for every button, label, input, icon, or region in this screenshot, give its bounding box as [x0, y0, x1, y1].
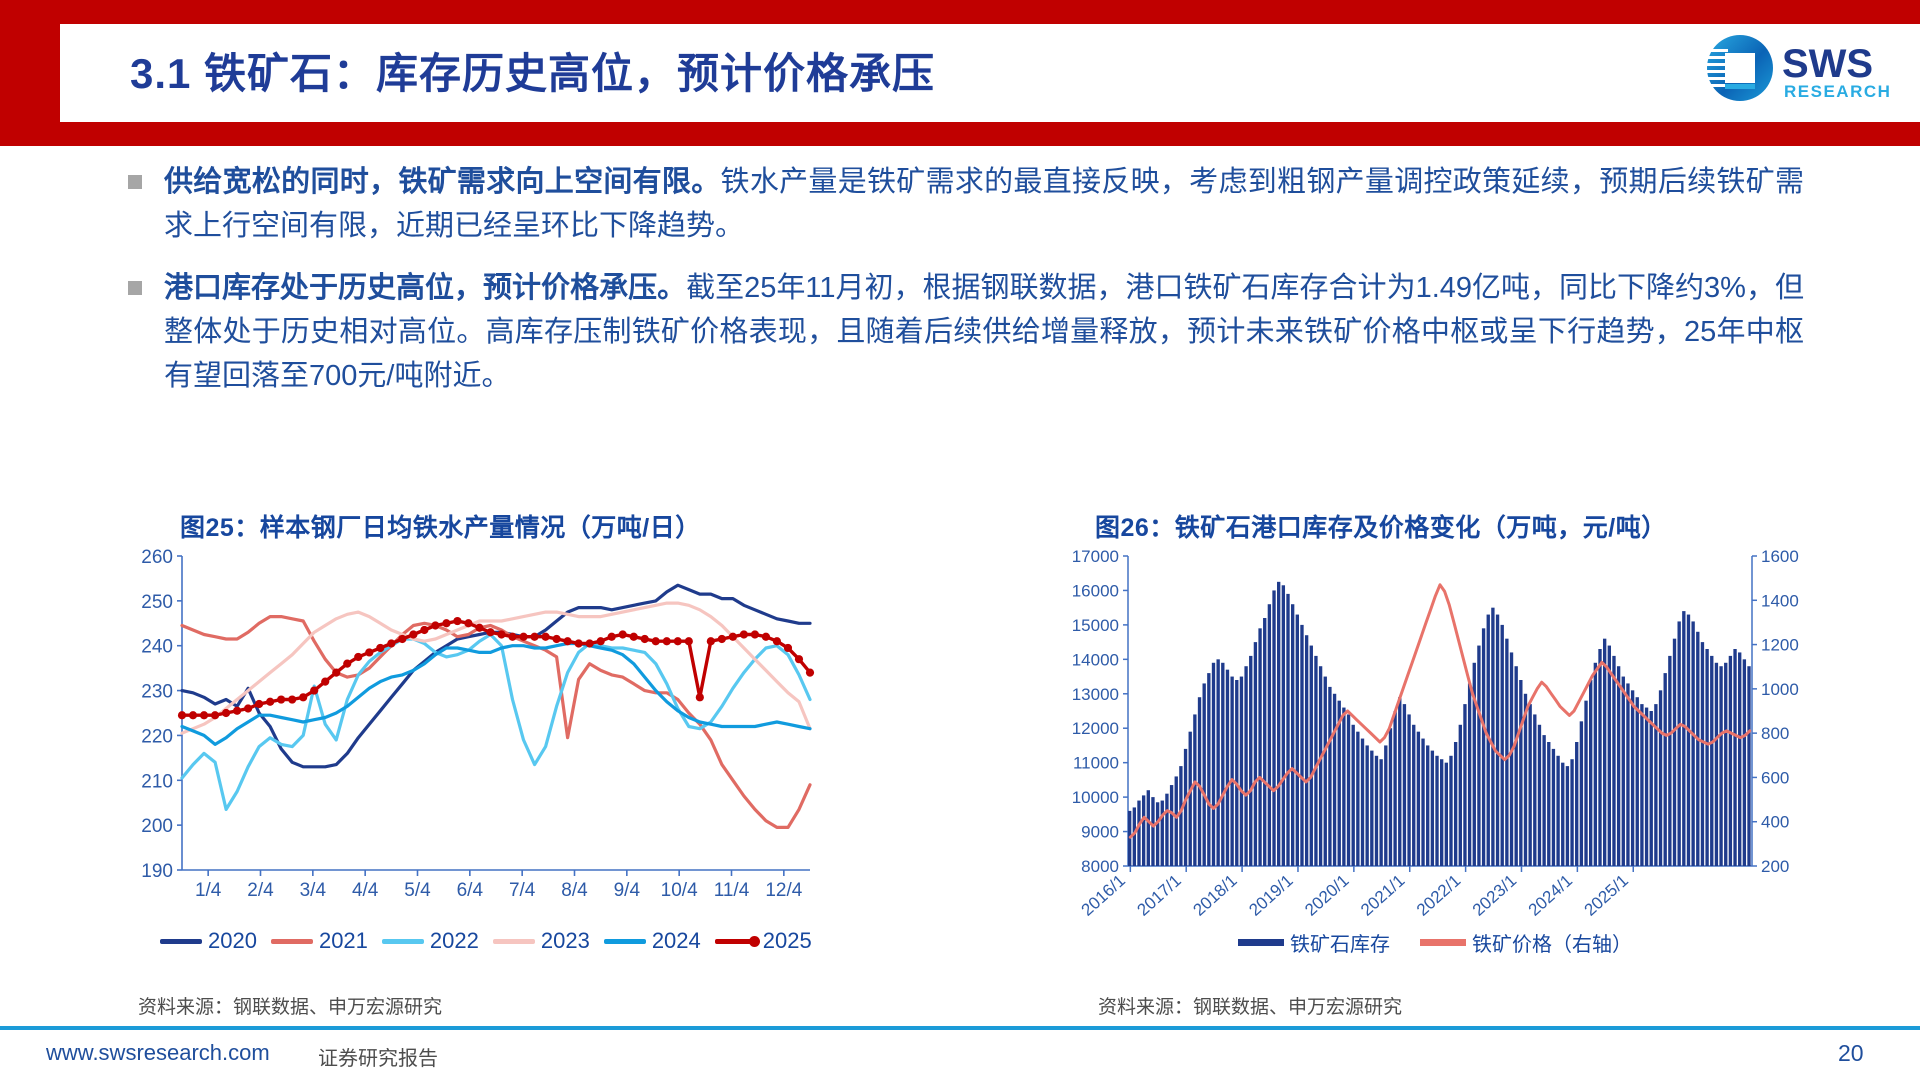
footer-divider — [0, 1026, 1920, 1030]
legend-swatch-price — [1420, 939, 1466, 946]
legend-label-2023: 2023 — [541, 928, 590, 954]
legend-item-2023: 2023 — [493, 928, 590, 954]
svg-text:400: 400 — [1761, 813, 1789, 832]
legend-label-2022: 2022 — [430, 928, 479, 954]
svg-text:2/4: 2/4 — [247, 880, 274, 901]
svg-text:11/4: 11/4 — [714, 880, 750, 901]
footer-label: 证券研究报告 — [318, 1042, 438, 1071]
svg-text:800: 800 — [1761, 724, 1789, 743]
svg-text:10/4: 10/4 — [661, 880, 698, 901]
legend-swatch-2022 — [382, 939, 424, 944]
legend-label-inventory: 铁矿石库存 — [1290, 928, 1390, 957]
svg-text:16000: 16000 — [1072, 581, 1119, 600]
chart25-legend: 2020 2021 2022 2023 2024 2025 — [160, 928, 826, 954]
chart26-plot: 8000900010000110001200013000140001500016… — [1050, 548, 1830, 928]
chart25-plot: 1902002102202302402502601/42/43/44/45/46… — [120, 548, 820, 928]
svg-text:230: 230 — [141, 682, 173, 703]
page-number: 20 — [1838, 1040, 1864, 1067]
svg-text:1/4: 1/4 — [195, 880, 222, 901]
legend-item-2020: 2020 — [160, 928, 257, 954]
svg-text:14000: 14000 — [1072, 650, 1119, 669]
svg-text:12/4: 12/4 — [765, 880, 802, 901]
svg-text:6/4: 6/4 — [457, 880, 484, 901]
slide-header: 3.1 铁矿石：库存历史高位，预计价格承压 — [0, 0, 1920, 146]
bullet-square-icon — [128, 175, 142, 189]
svg-text:5/4: 5/4 — [404, 880, 431, 901]
bullet-text-2: 港口库存处于历史高位，预计价格承压。截至25年11月初，根据钢联数据，港口铁矿石… — [164, 266, 1804, 398]
svg-text:1200: 1200 — [1761, 636, 1799, 655]
svg-text:3/4: 3/4 — [300, 880, 327, 901]
legend-item-2024: 2024 — [604, 928, 701, 954]
svg-text:9000: 9000 — [1081, 823, 1119, 842]
svg-text:13000: 13000 — [1072, 685, 1119, 704]
legend-label-price: 铁矿价格（右轴） — [1472, 928, 1632, 957]
svg-text:2016/1: 2016/1 — [1078, 871, 1129, 920]
svg-text:2021/1: 2021/1 — [1357, 871, 1408, 920]
header-bottom-band — [0, 122, 1920, 146]
bullet-item-1: 供给宽松的同时，铁矿需求向上空间有限。铁水产量是铁矿需求的最直接反映，考虑到粗钢… — [128, 160, 1808, 248]
chart26-title: 图26：铁矿石港口库存及价格变化（万吨，元/吨） — [1095, 508, 1667, 544]
svg-text:210: 210 — [141, 771, 173, 792]
bullet-1-bold: 供给宽松的同时，铁矿需求向上空间有限。 — [164, 166, 721, 198]
legend-label-2020: 2020 — [208, 928, 257, 954]
bullet-square-icon — [128, 281, 142, 295]
logo-sub-text: RESEARCH — [1784, 82, 1891, 101]
svg-text:2023/1: 2023/1 — [1469, 871, 1520, 920]
svg-text:11000: 11000 — [1073, 754, 1119, 773]
svg-text:2020/1: 2020/1 — [1301, 871, 1352, 920]
chart25-source: 资料来源：钢联数据、申万宏源研究 — [138, 992, 442, 1019]
svg-text:1600: 1600 — [1761, 548, 1799, 566]
svg-text:240: 240 — [141, 637, 173, 658]
svg-text:260: 260 — [141, 548, 173, 568]
legend-swatch-2021 — [271, 939, 313, 944]
logo-globe-icon — [1706, 35, 1773, 101]
sws-research-logo: SWS RESEARCH — [1700, 27, 1900, 109]
chart26-source: 资料来源：钢联数据、申万宏源研究 — [1098, 992, 1402, 1019]
slide: 3.1 铁矿石：库存历史高位，预计价格承压 — [0, 0, 1920, 1080]
legend-item-2021: 2021 — [271, 928, 368, 954]
svg-text:600: 600 — [1761, 768, 1789, 787]
page-title: 3.1 铁矿石：库存历史高位，预计价格承压 — [130, 40, 935, 101]
legend-item-2022: 2022 — [382, 928, 479, 954]
svg-text:4/4: 4/4 — [352, 880, 379, 901]
svg-text:10000: 10000 — [1072, 788, 1119, 807]
legend-item-2025: 2025 — [715, 928, 812, 954]
legend-swatch-2020 — [160, 939, 202, 944]
svg-text:9/4: 9/4 — [614, 880, 641, 901]
svg-text:2022/1: 2022/1 — [1413, 871, 1464, 920]
legend-swatch-2024 — [604, 939, 646, 944]
bullet-text-1: 供给宽松的同时，铁矿需求向上空间有限。铁水产量是铁矿需求的最直接反映，考虑到粗钢… — [164, 160, 1804, 248]
legend-item-price: 铁矿价格（右轴） — [1420, 928, 1632, 957]
bullet-item-2: 港口库存处于历史高位，预计价格承压。截至25年11月初，根据钢联数据，港口铁矿石… — [128, 266, 1808, 398]
legend-swatch-inventory — [1238, 939, 1284, 946]
legend-label-2021: 2021 — [319, 928, 368, 954]
bullet-2-bold: 港口库存处于历史高位，预计价格承压。 — [164, 272, 686, 304]
svg-text:220: 220 — [141, 726, 173, 747]
logo-main-text: SWS — [1782, 42, 1873, 86]
svg-text:1000: 1000 — [1761, 680, 1799, 699]
svg-text:8/4: 8/4 — [561, 880, 588, 901]
legend-label-2025: 2025 — [763, 928, 812, 954]
footer-url[interactable]: www.swsresearch.com — [46, 1040, 270, 1066]
svg-text:17000: 17000 — [1072, 548, 1119, 566]
svg-text:7/4: 7/4 — [509, 880, 536, 901]
svg-text:2018/1: 2018/1 — [1189, 871, 1240, 920]
svg-text:2017/1: 2017/1 — [1134, 871, 1185, 920]
legend-swatch-2025 — [715, 939, 757, 944]
svg-text:200: 200 — [1761, 857, 1789, 876]
svg-text:15000: 15000 — [1072, 616, 1119, 635]
svg-text:12000: 12000 — [1072, 719, 1119, 738]
chart25-title: 图25：样本钢厂日均铁水产量情况（万吨/日） — [180, 508, 701, 544]
chart26-legend: 铁矿石库存 铁矿价格（右轴） — [1238, 928, 1662, 957]
svg-text:2025/1: 2025/1 — [1581, 871, 1632, 920]
legend-swatch-2023 — [493, 939, 535, 944]
svg-text:250: 250 — [141, 592, 173, 613]
bullet-list: 供给宽松的同时，铁矿需求向上空间有限。铁水产量是铁矿需求的最直接反映，考虑到粗钢… — [128, 160, 1808, 416]
header-top-band — [0, 0, 1920, 24]
svg-text:190: 190 — [141, 861, 173, 882]
legend-item-inventory: 铁矿石库存 — [1238, 928, 1390, 957]
legend-label-2024: 2024 — [652, 928, 701, 954]
svg-text:1400: 1400 — [1761, 591, 1799, 610]
svg-text:2019/1: 2019/1 — [1245, 871, 1296, 920]
svg-text:2024/1: 2024/1 — [1525, 871, 1576, 920]
svg-text:200: 200 — [141, 816, 173, 837]
